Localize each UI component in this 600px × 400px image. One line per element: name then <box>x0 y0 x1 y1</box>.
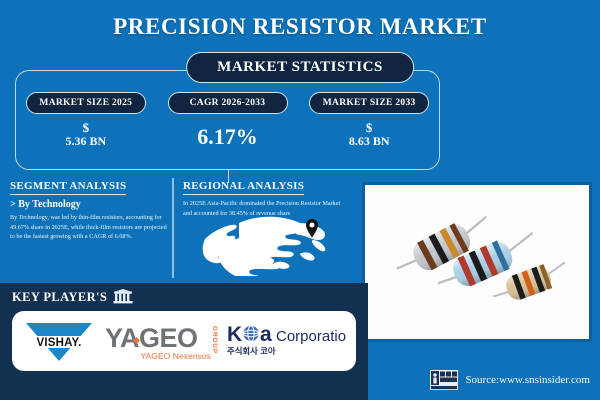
snsinsider-logo-icon <box>430 370 458 390</box>
stat-cagr: CAGR 2026-2033 6.17% <box>157 92 299 172</box>
market-statistics-columns: MARKET SIZE 2025 $ 5.36 BN CAGR 2026-203… <box>15 92 440 172</box>
koa-logo-icon: K a Corporation 주식회사 코아 <box>226 320 346 362</box>
svg-text:주식회사 코아: 주식회사 코아 <box>227 346 276 356</box>
key-players-heading: KEY PLAYER'S <box>12 290 107 305</box>
svg-text:GROUP: GROUP <box>211 326 218 354</box>
svg-text:Corporation: Corporation <box>276 328 346 345</box>
stat-currency: $ <box>349 121 390 135</box>
svg-text:YAGEO: YAGEO <box>105 323 198 353</box>
resistor-photo <box>369 189 585 335</box>
stat-label: MARKET SIZE 2025 <box>26 92 146 114</box>
product-image-panel <box>362 182 592 342</box>
stat-amount: 5.36 BN <box>66 134 107 148</box>
segment-analysis-heading: SEGMENT ANALYSIS <box>10 180 126 195</box>
stat-market-size-2033: MARKET SIZE 2033 $ 8.63 BN <box>298 92 440 172</box>
stat-market-size-2025: MARKET SIZE 2025 $ 5.36 BN <box>15 92 157 172</box>
key-players-heading-group: KEY PLAYER'S <box>12 289 133 305</box>
source-line: Source:www.snsinsider.com <box>430 370 590 390</box>
bank-building-icon <box>113 289 133 305</box>
svg-text:VISHAY.: VISHAY. <box>36 337 81 349</box>
vishay-logo-icon: VISHAY. <box>22 317 96 365</box>
yageo-logo-icon: YAGEO GROUP YAGEO Nexensos <box>103 318 219 364</box>
logo-yageo: YAGEO GROUP YAGEO Nexensos <box>103 318 219 364</box>
logo-koa-corporation: K a Corporation 주식회사 코아 <box>226 320 346 362</box>
segment-analysis-subheading: > By Technology <box>10 199 170 210</box>
stat-value: $ 5.36 BN <box>66 121 107 147</box>
market-statistics-heading: MARKET STATISTICS <box>186 52 414 83</box>
stat-currency: $ <box>66 121 107 135</box>
stat-amount: 6.17% <box>197 125 258 148</box>
stat-amount: 8.63 BN <box>349 134 390 148</box>
analysis-band: SEGMENT ANALYSIS > By Technology By Tech… <box>0 176 350 286</box>
stat-value: $ 8.63 BN <box>349 121 390 147</box>
stat-label: MARKET SIZE 2033 <box>309 92 429 114</box>
page-title: PRECISION RESISTOR MARKET <box>0 14 600 40</box>
section-divider <box>172 178 174 278</box>
logo-vishay: VISHAY. <box>22 317 96 365</box>
key-players-panel: KEY PLAYER'S VISHAY. YAGEO GROUP <box>0 283 368 400</box>
source-text: Source:www.snsinsider.com <box>465 374 590 386</box>
key-players-logo-card: VISHAY. YAGEO GROUP YAGEO Nexensos K a C… <box>12 311 356 371</box>
regional-analysis-heading: REGIONAL ANALYSIS <box>183 180 304 195</box>
segment-analysis-body: By Technology, was led by thin-film resi… <box>10 213 170 242</box>
world-map-graphic <box>183 210 343 276</box>
segment-analysis-section: SEGMENT ANALYSIS > By Technology By Tech… <box>10 176 170 242</box>
stat-label: CAGR 2026-2033 <box>168 92 288 114</box>
svg-text:a: a <box>260 323 272 346</box>
svg-text:YAGEO Nexensos: YAGEO Nexensos <box>140 351 211 361</box>
svg-text:K: K <box>227 323 242 346</box>
